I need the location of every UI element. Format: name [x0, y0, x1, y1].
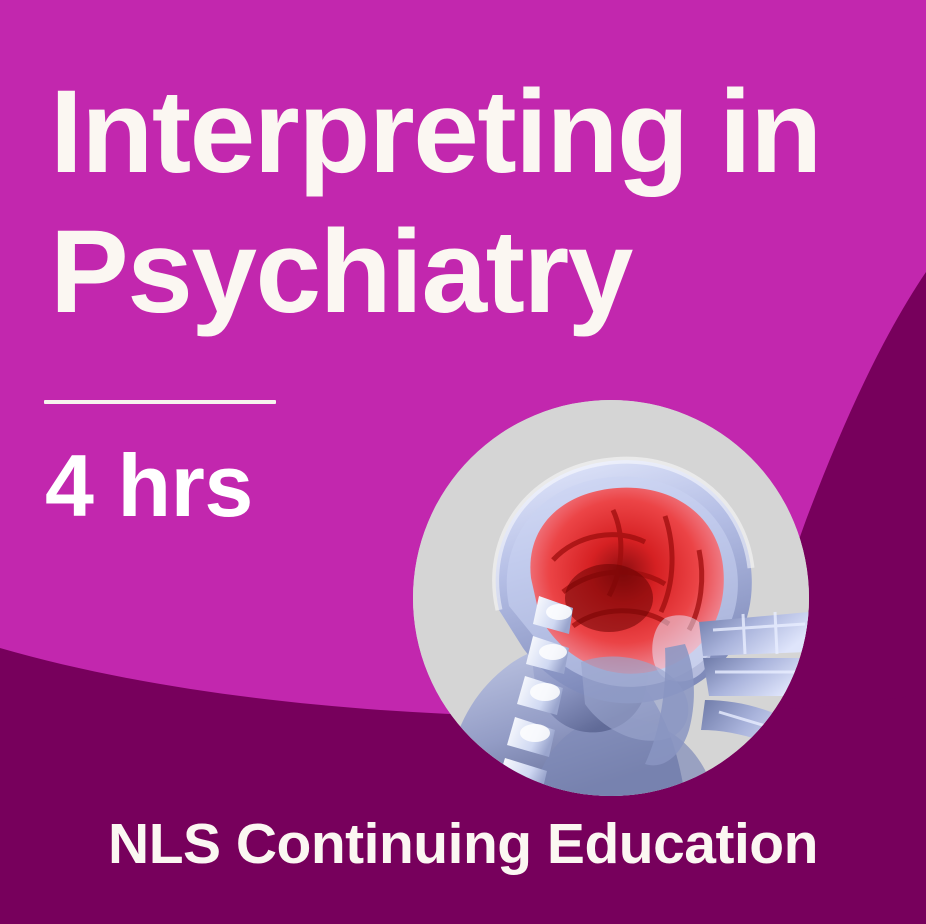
course-duration: 4 hrs [45, 438, 253, 534]
course-thumbnail [413, 400, 809, 796]
course-title: Interpreting in Psychiatry [50, 62, 850, 342]
brand-footer: NLS Continuing Education [0, 812, 926, 876]
brain-core-shadow [565, 564, 653, 632]
course-card: Interpreting in Psychiatry 4 hrs [0, 0, 926, 924]
title-divider-rule [44, 400, 276, 404]
xray-head-brain-icon [413, 400, 809, 796]
